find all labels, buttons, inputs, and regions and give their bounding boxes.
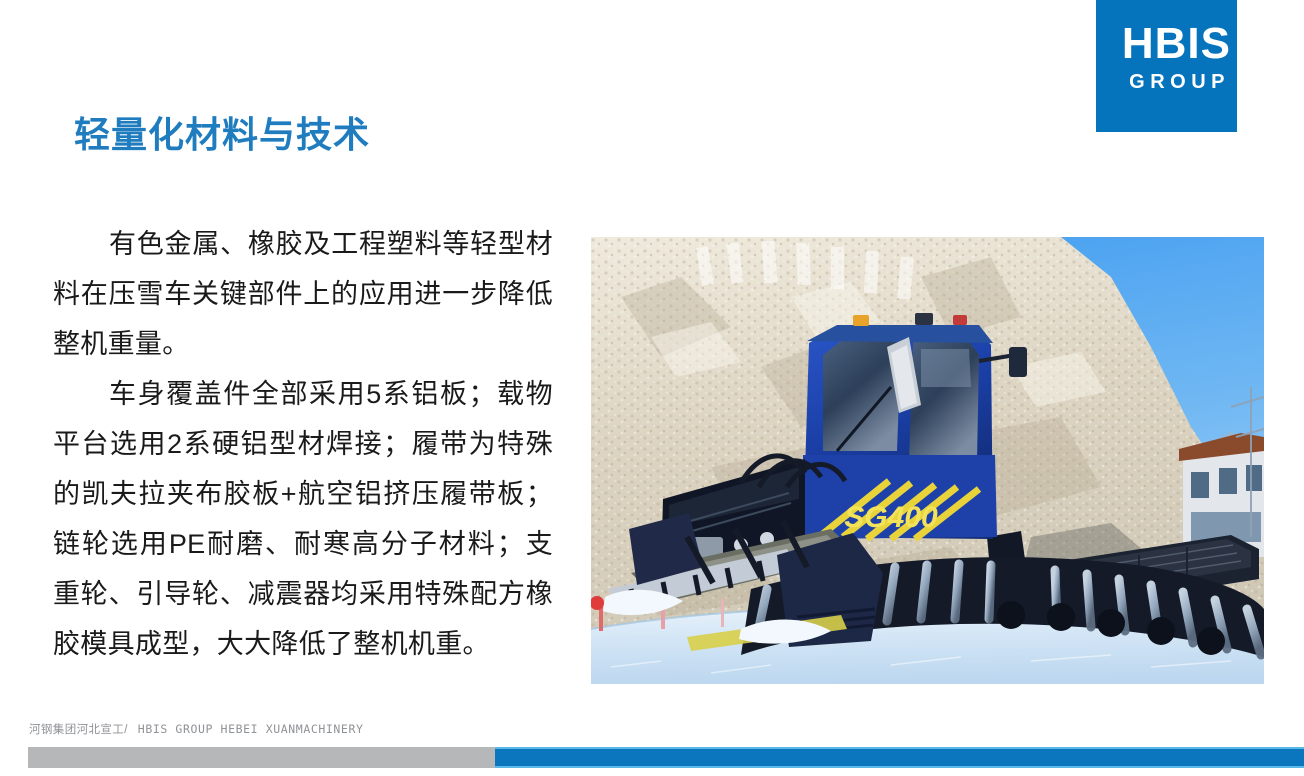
bottom-bar-grey-segment — [28, 747, 495, 768]
photo-illustration: SG400 — [591, 237, 1264, 684]
slide-canvas: HBIS GROUP 轻量化材料与技术 有色金属、橡胶及工程塑料等轻型材料在压雪… — [0, 0, 1304, 776]
page-title: 轻量化材料与技术 — [74, 114, 370, 155]
vehicle-model-badge: SG400 — [844, 501, 938, 534]
footer-caption-en: HBIS GROUP HEBEI XUANMACHINERY — [138, 722, 364, 736]
logo-wordmark: HBIS — [1096, 22, 1231, 66]
footer-caption: 河钢集团河北宣工/HBIS GROUP HEBEI XUANMACHINERY — [29, 721, 364, 737]
bottom-bar-blue-segment — [495, 747, 1304, 768]
paragraph-2: 车身覆盖件全部采用5系铝板；载物平台选用2系硬铝型材焊接；履带为特殊的凯夫拉夹布… — [53, 369, 553, 669]
snow-groomer-photo: SG400 — [591, 237, 1264, 684]
footer-caption-cn: 河钢集团河北宣工/ — [29, 724, 128, 736]
logo-subtitle: GROUP — [1096, 72, 1230, 92]
paragraph-1: 有色金属、橡胶及工程塑料等轻型材料在压雪车关键部件上的应用进一步降低整机重量。 — [53, 219, 553, 369]
hbis-group-logo: HBIS GROUP — [1096, 0, 1237, 132]
body-text-column: 有色金属、橡胶及工程塑料等轻型材料在压雪车关键部件上的应用进一步降低整机重量。 … — [53, 219, 553, 669]
